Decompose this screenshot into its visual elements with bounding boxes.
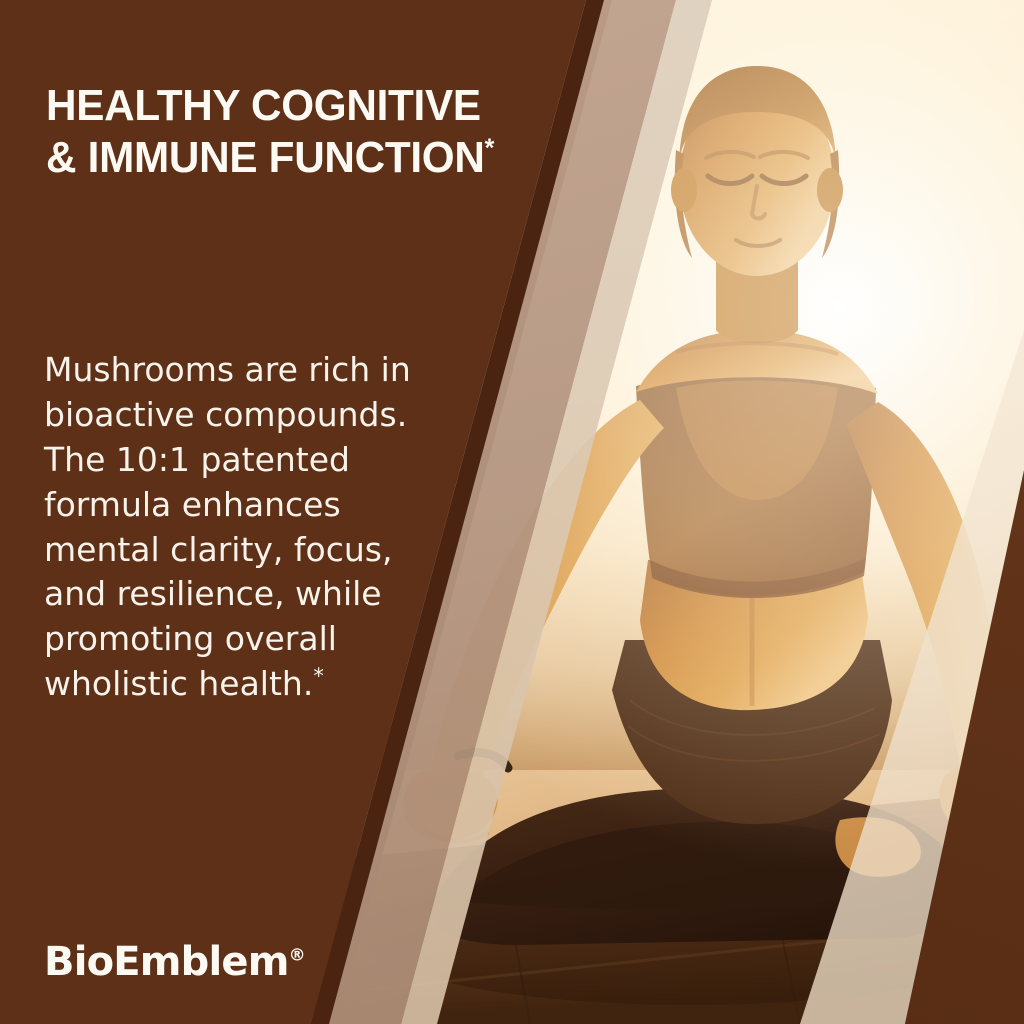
text-content: HEALTHY COGNITIVE& IMMUNE FUNCTION* Mush…	[0, 0, 1024, 1024]
headline-footnote-marker: *	[485, 132, 494, 162]
brand-logo[interactable]: BioEmblem®	[44, 942, 306, 982]
registered-trademark-icon: ®	[289, 946, 306, 966]
body-copy-text: Mushrooms are rich in bioactive compound…	[44, 350, 411, 703]
page-title: HEALTHY COGNITIVE& IMMUNE FUNCTION*	[46, 80, 545, 184]
brand-name: BioEmblem	[44, 939, 289, 985]
body-footnote-marker: *	[313, 664, 324, 688]
body-copy: Mushrooms are rich in bioactive compound…	[44, 348, 444, 707]
headline-line-2: & IMMUNE FUNCTION	[46, 133, 485, 182]
headline-line-1: HEALTHY COGNITIVE	[46, 81, 481, 130]
product-marketing-card: HEALTHY COGNITIVE& IMMUNE FUNCTION* Mush…	[0, 0, 1024, 1024]
